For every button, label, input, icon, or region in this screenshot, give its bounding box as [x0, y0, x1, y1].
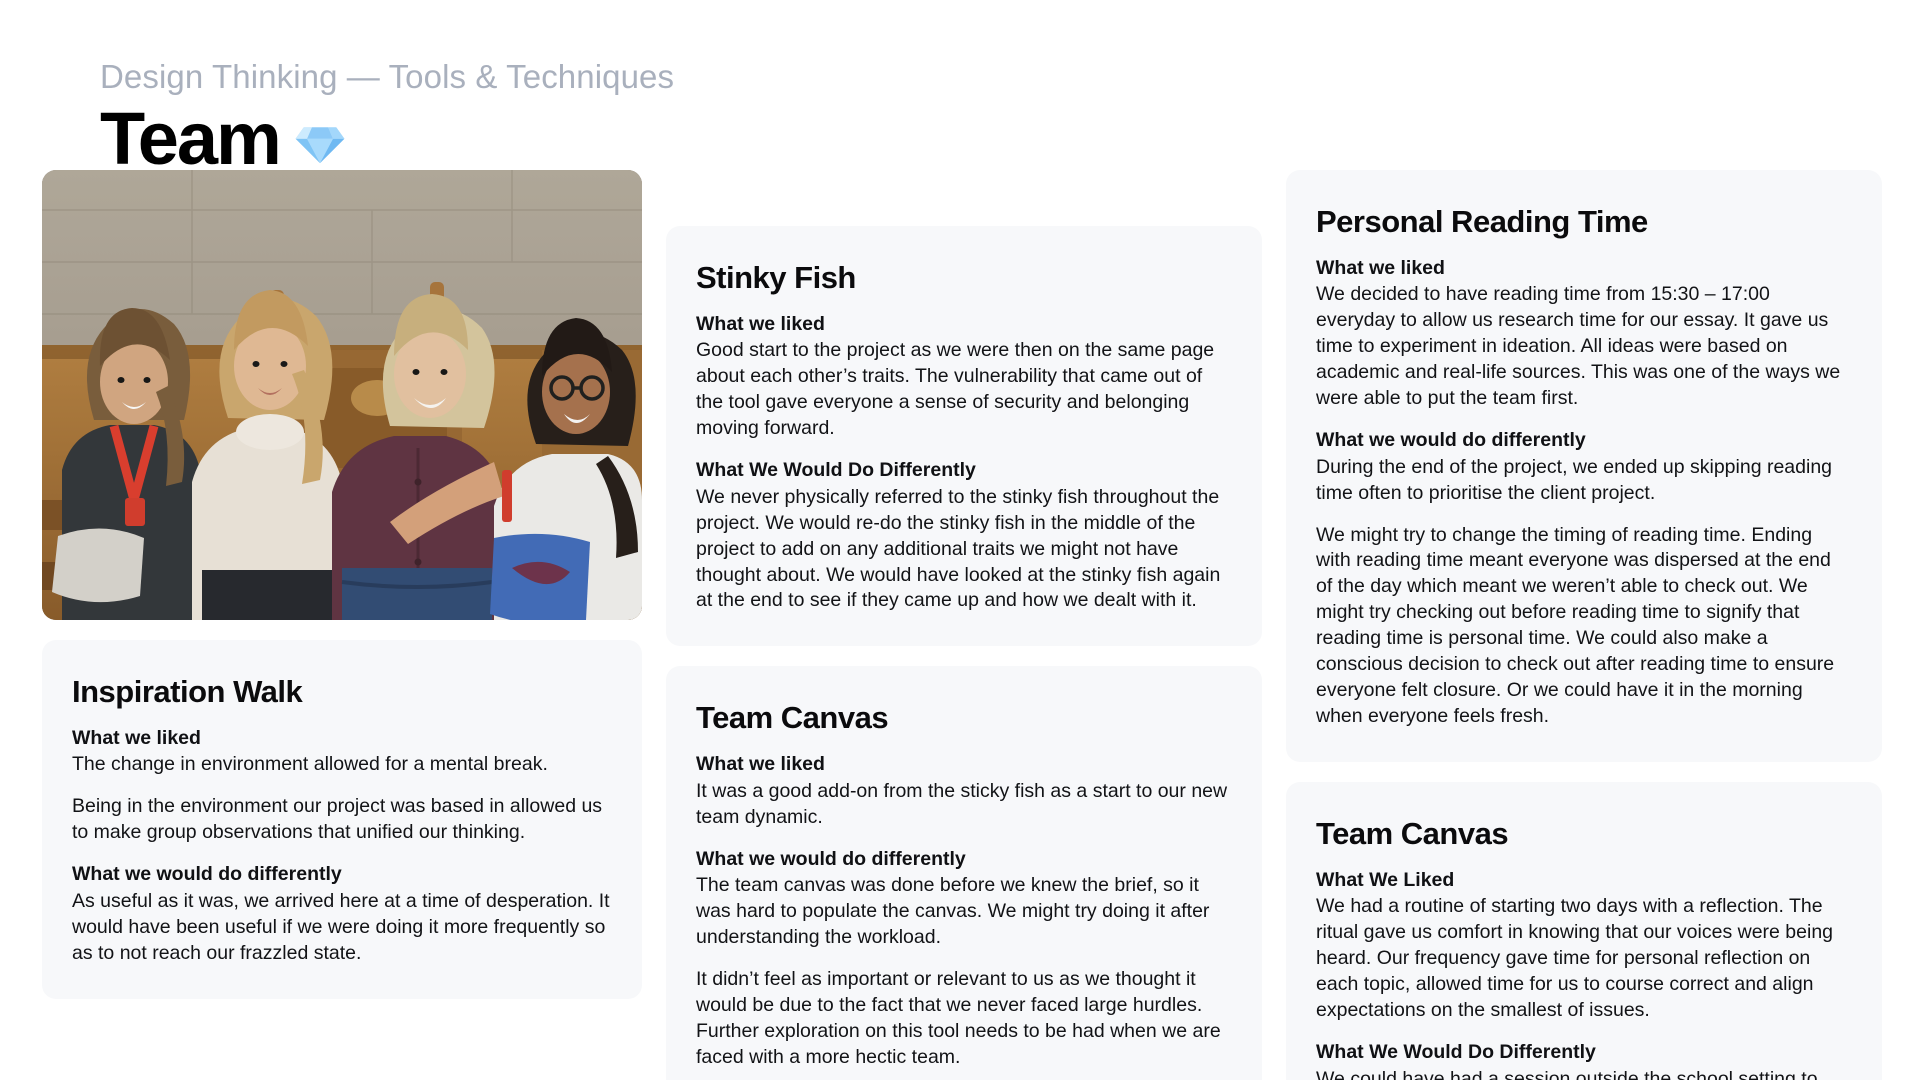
- section-heading-differently: What we would do differently: [1316, 428, 1852, 454]
- column-middle: Stinky Fish What we liked Good start to …: [666, 170, 1262, 1080]
- section-paragraph: We had a routine of starting two days wi…: [1316, 894, 1852, 1024]
- section-paragraph: As useful as it was, we arrived here at …: [72, 889, 612, 967]
- section-heading-differently: What we would do differently: [696, 847, 1232, 873]
- section-paragraph: Being in the environment our project was…: [72, 794, 612, 846]
- section-paragraph: We never physically referred to the stin…: [696, 485, 1232, 615]
- page-eyebrow: Design Thinking — Tools & Techniques: [100, 58, 1000, 96]
- card-team-canvas-middle: Team Canvas What we liked It was a good …: [666, 666, 1262, 1080]
- section-heading-differently: What We Would Do Differently: [696, 458, 1232, 484]
- card-title: Inspiration Walk: [72, 674, 612, 710]
- card-title: Personal Reading Time: [1316, 204, 1852, 240]
- column-right: Personal Reading Time What we liked We d…: [1286, 170, 1882, 1080]
- page-title-row: Team: [100, 98, 1000, 181]
- section-heading-liked: What we liked: [696, 752, 1232, 778]
- slide-canvas: Design Thinking — Tools & Techniques Tea…: [0, 0, 1920, 1080]
- page-title: Team: [100, 98, 280, 181]
- section-paragraph: It didn’t feel as important or relevant …: [696, 967, 1232, 1071]
- team-photo: [42, 170, 642, 620]
- gem-icon: [294, 116, 346, 168]
- card-team-canvas-right: Team Canvas What We Liked We had a routi…: [1286, 782, 1882, 1080]
- section-heading-liked: What we liked: [72, 726, 612, 752]
- card-title: Team Canvas: [696, 700, 1232, 736]
- column-left: Inspiration Walk What we liked The chang…: [42, 170, 642, 999]
- section-heading-differently: What we would do differently: [72, 862, 612, 888]
- section-paragraph: The team canvas was done before we knew …: [696, 873, 1232, 951]
- section-heading-differently: What We Would Do Differently: [1316, 1040, 1852, 1066]
- section-paragraph: We decided to have reading time from 15:…: [1316, 282, 1852, 412]
- card-title: Team Canvas: [1316, 816, 1852, 852]
- content-columns: Inspiration Walk What we liked The chang…: [42, 170, 1882, 1080]
- section-heading-liked: What We Liked: [1316, 868, 1852, 894]
- card-inspiration-walk: Inspiration Walk What we liked The chang…: [42, 640, 642, 999]
- section-heading-liked: What we liked: [1316, 256, 1852, 282]
- section-heading-liked: What we liked: [696, 312, 1232, 338]
- section-paragraph: It was a good add-on from the sticky fis…: [696, 779, 1232, 831]
- section-paragraph: During the end of the project, we ended …: [1316, 455, 1852, 507]
- section-paragraph: Good start to the project as we were the…: [696, 338, 1232, 442]
- card-stinky-fish: Stinky Fish What we liked Good start to …: [666, 226, 1262, 646]
- page-header: Design Thinking — Tools & Techniques Tea…: [100, 58, 1000, 181]
- section-paragraph: We could have had a session outside the …: [1316, 1067, 1852, 1080]
- section-paragraph: The change in environment allowed for a …: [72, 752, 612, 778]
- section-paragraph: We might try to change the timing of rea…: [1316, 523, 1852, 730]
- card-title: Stinky Fish: [696, 260, 1232, 296]
- card-personal-reading-time: Personal Reading Time What we liked We d…: [1286, 170, 1882, 762]
